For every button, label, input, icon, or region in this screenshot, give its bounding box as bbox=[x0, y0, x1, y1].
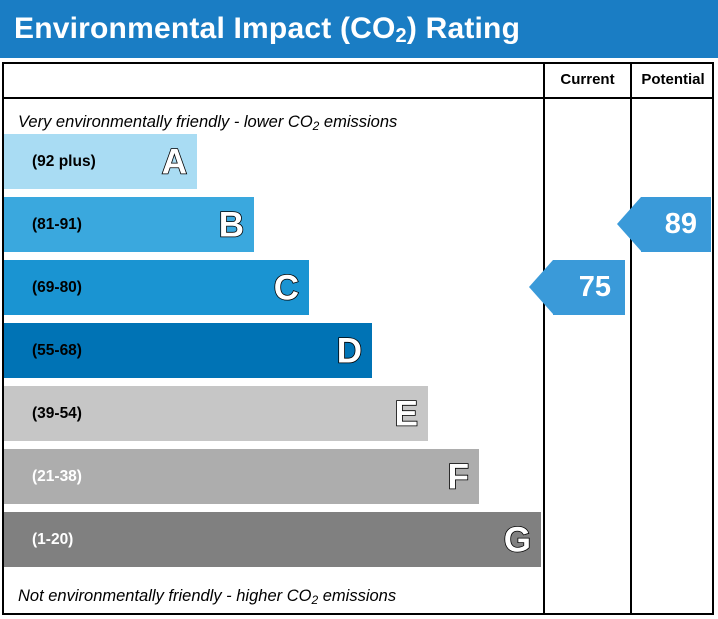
band-range-label: (55-68) bbox=[4, 342, 82, 360]
rating-band-e: (39-54)E bbox=[4, 386, 428, 441]
rating-band-b: (81-91)B bbox=[4, 197, 254, 252]
title-main-before: Environmental Impact (CO bbox=[14, 12, 396, 45]
band-letter-label: D bbox=[337, 333, 362, 368]
column-divider-potential bbox=[630, 64, 632, 613]
band-range-label: (21-38) bbox=[4, 468, 82, 486]
marker-potential: 89 bbox=[641, 197, 711, 252]
rating-band-c: (69-80)C bbox=[4, 260, 309, 315]
rating-band-d: (55-68)D bbox=[4, 323, 372, 378]
rating-band-a: (92 plus)A bbox=[4, 134, 197, 189]
band-range-label: (1-20) bbox=[4, 531, 73, 549]
column-divider-current bbox=[543, 64, 545, 613]
band-range-label: (69-80) bbox=[4, 279, 82, 297]
rating-band-f: (21-38)F bbox=[4, 449, 479, 504]
band-letter-label: G bbox=[504, 522, 531, 557]
header-potential: Potential bbox=[632, 71, 714, 88]
marker-current: 75 bbox=[553, 260, 625, 315]
band-letter-label: F bbox=[448, 459, 469, 494]
title-subscript: 2 bbox=[396, 25, 407, 47]
epc-environmental-impact-chart: Environmental Impact (CO2) Rating Curren… bbox=[0, 0, 718, 619]
band-letter-label: A bbox=[162, 144, 187, 179]
rating-bands: (92 plus)A(81-91)B(69-80)C(55-68)D(39-54… bbox=[4, 64, 541, 613]
page-title: Environmental Impact (CO2) Rating bbox=[0, 12, 520, 46]
chart-title-bar: Environmental Impact (CO2) Rating bbox=[0, 0, 718, 58]
band-letter-label: B bbox=[219, 207, 244, 242]
band-range-label: (92 plus) bbox=[4, 153, 96, 171]
band-letter-label: E bbox=[395, 396, 418, 431]
title-main-after: ) Rating bbox=[407, 12, 520, 45]
band-range-label: (81-91) bbox=[4, 216, 82, 234]
band-range-label: (39-54) bbox=[4, 405, 82, 423]
rating-band-g: (1-20)G bbox=[4, 512, 541, 567]
chart-grid: Current Potential Very environmentally f… bbox=[2, 62, 714, 615]
header-current: Current bbox=[545, 71, 630, 88]
band-letter-label: C bbox=[274, 270, 299, 305]
